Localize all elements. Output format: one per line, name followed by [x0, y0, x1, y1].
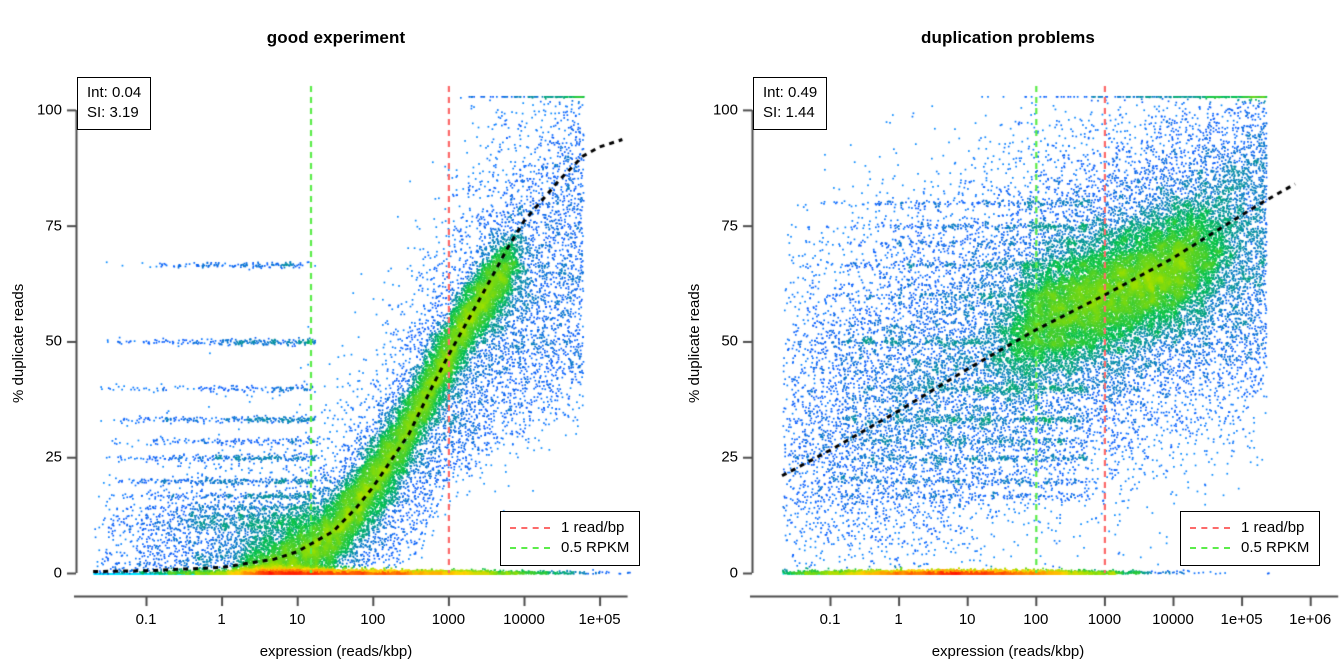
x-tick-label: 10: [959, 611, 976, 628]
y-axis-title: % duplicate reads: [10, 284, 27, 403]
legend-left: 1 read/bp0.5 RPKM: [500, 511, 640, 566]
stats-box-left: Int: 0.04 SI: 3.19: [77, 77, 151, 130]
y-tick-label: 25: [700, 449, 738, 466]
x-tick-label: 1000: [432, 611, 465, 628]
stat-si-right: SI: 1.44: [763, 103, 817, 123]
x-tick-label: 1e+06: [1289, 611, 1331, 628]
legend-dash-icon: [510, 527, 550, 529]
x-tick-label: 1000: [1088, 611, 1121, 628]
stat-int-right: Int: 0.49: [763, 83, 817, 103]
y-tick-label: 50: [24, 333, 62, 350]
y-tick-label: 75: [24, 217, 62, 234]
stat-si-left: SI: 3.19: [87, 103, 141, 123]
legend-1-read-per-bp: 1 read/bp: [510, 518, 629, 538]
legend-right: 1 read/bp0.5 RPKM: [1180, 511, 1320, 566]
x-tick-label: 1: [217, 611, 225, 628]
stats-box-right: Int: 0.49 SI: 1.44: [753, 77, 827, 130]
y-tick-label: 0: [700, 565, 738, 582]
x-tick-label: 10: [289, 611, 306, 628]
legend-dash-icon: [1190, 527, 1230, 529]
x-axis-title: expression (reads/kbp): [672, 643, 1344, 660]
y-tick-label: 75: [700, 217, 738, 234]
x-tick-label: 100: [1023, 611, 1048, 628]
legend-0.5-rpkm: 0.5 RPKM: [510, 538, 629, 558]
legend-1-read-per-bp: 1 read/bp: [1190, 518, 1309, 538]
x-tick-label: 10000: [503, 611, 545, 628]
y-tick-label: 100: [24, 101, 62, 118]
y-tick-label: 50: [700, 333, 738, 350]
legend-label: 0.5 RPKM: [561, 538, 629, 558]
legend-0.5-rpkm: 0.5 RPKM: [1190, 538, 1309, 558]
x-tick-label: 100: [360, 611, 385, 628]
figure-root: good experiment Int: 0.04 SI: 3.19 1 rea…: [0, 0, 1344, 672]
panel-duplication-problems: duplication problems Int: 0.49 SI: 1.44 …: [672, 0, 1344, 672]
y-tick-label: 0: [24, 565, 62, 582]
y-tick-label: 25: [24, 449, 62, 466]
y-tick-label: 100: [700, 101, 738, 118]
x-tick-label: 1e+05: [1221, 611, 1263, 628]
x-axis-title: expression (reads/kbp): [0, 643, 672, 660]
legend-dash-icon: [510, 547, 550, 549]
x-tick-label: 10000: [1152, 611, 1194, 628]
x-tick-label: 0.1: [820, 611, 841, 628]
x-tick-label: 1e+05: [579, 611, 621, 628]
x-tick-label: 0.1: [136, 611, 157, 628]
legend-label: 1 read/bp: [1241, 518, 1304, 538]
legend-label: 1 read/bp: [561, 518, 624, 538]
panel-good-experiment: good experiment Int: 0.04 SI: 3.19 1 rea…: [0, 0, 672, 672]
x-tick-label: 1: [894, 611, 902, 628]
stat-int-left: Int: 0.04: [87, 83, 141, 103]
legend-dash-icon: [1190, 547, 1230, 549]
legend-label: 0.5 RPKM: [1241, 538, 1309, 558]
y-axis-title: % duplicate reads: [686, 284, 703, 403]
